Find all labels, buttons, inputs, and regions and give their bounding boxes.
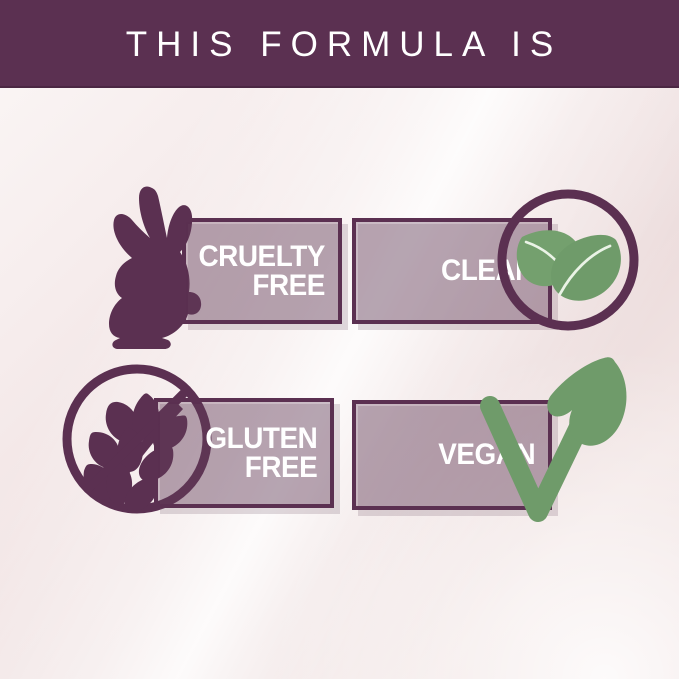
- formula-claims-poster: THIS FORMULA IS CRUELTY FREE: [0, 0, 679, 679]
- badge-clean: CLEAN: [352, 188, 642, 348]
- plaque-cruelty-free: CRUELTY FREE: [182, 218, 342, 324]
- badge-vegan: VEGAN: [352, 360, 642, 540]
- badge-label-cruelty-free: CRUELTY FREE: [199, 242, 338, 301]
- page-title: THIS FORMULA IS: [117, 25, 562, 62]
- badge-label-gluten-free: GLUTEN FREE: [205, 424, 330, 483]
- vegan-leaf-check-icon: [476, 352, 642, 532]
- badge-cruelty-free: CRUELTY FREE: [104, 188, 344, 348]
- badge-label-line-1: GLUTEN: [205, 422, 317, 455]
- plaque-gluten-free: GLUTEN FREE: [154, 398, 334, 508]
- badge-label-line-1: CRUELTY: [199, 240, 325, 273]
- badge-gluten-free: GLUTEN FREE: [56, 360, 346, 530]
- header-band: THIS FORMULA IS: [0, 0, 679, 88]
- leaves-circle-icon: [492, 184, 644, 336]
- badge-label-line-2: FREE: [252, 269, 325, 302]
- badge-label-line-2: FREE: [244, 451, 317, 484]
- badge-grid: CRUELTY FREE CLEAN: [0, 88, 679, 679]
